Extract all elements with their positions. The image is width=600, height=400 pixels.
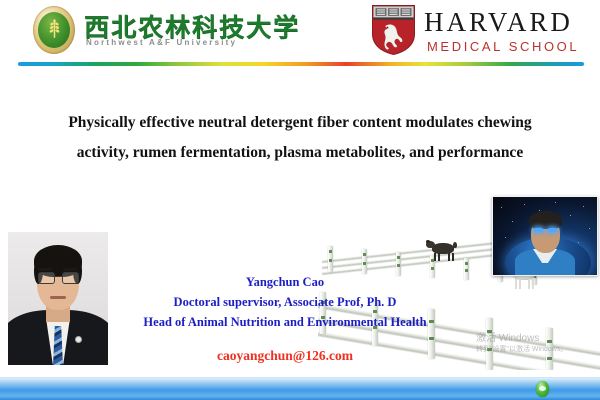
windows-taskbar[interactable] — [0, 377, 600, 400]
title-line-1: Physically effective neutral detergent f… — [40, 108, 560, 138]
wheat-glyph — [49, 18, 60, 40]
title-line-2: activity, rumen fermentation, plasma met… — [40, 138, 560, 168]
partner-name: HARVARD — [424, 7, 573, 38]
rainbow-rule — [18, 62, 584, 66]
dark-goat — [426, 238, 460, 262]
author-position: Head of Animal Nutrition and Environment… — [120, 312, 450, 332]
author-email[interactable]: caoyangchun@126.com — [120, 348, 450, 364]
author-role: Doctoral supervisor, Associate Prof, Ph.… — [120, 292, 450, 312]
presentation-slide: 西北农林科技大学 Northwest A&F University HARVAR… — [0, 0, 600, 400]
wechat-tray-icon[interactable] — [536, 381, 549, 397]
windows-activation-watermark: 激活 Windows 转到"设置"以激活 Windows。 — [476, 333, 596, 355]
watermark-line-1: 激活 Windows — [476, 333, 596, 345]
watermark-line-2: 转到"设置"以激活 Windows。 — [476, 345, 596, 355]
author-info: Yangchun Cao Doctoral supervisor, Associ… — [120, 272, 450, 332]
wheat-emblem-icon — [30, 5, 78, 55]
university-name-en: Northwest A&F University — [86, 38, 237, 47]
harvard-shield-icon — [371, 4, 416, 56]
partner-subtitle: MEDICAL SCHOOL — [427, 39, 579, 54]
webcam-video-window[interactable] — [492, 196, 598, 276]
slide-header: 西北农林科技大学 Northwest A&F University HARVAR… — [0, 0, 600, 58]
presenter-headshot — [8, 232, 108, 365]
page-title: Physically effective neutral detergent f… — [40, 108, 560, 168]
author-name: Yangchun Cao — [120, 272, 450, 292]
